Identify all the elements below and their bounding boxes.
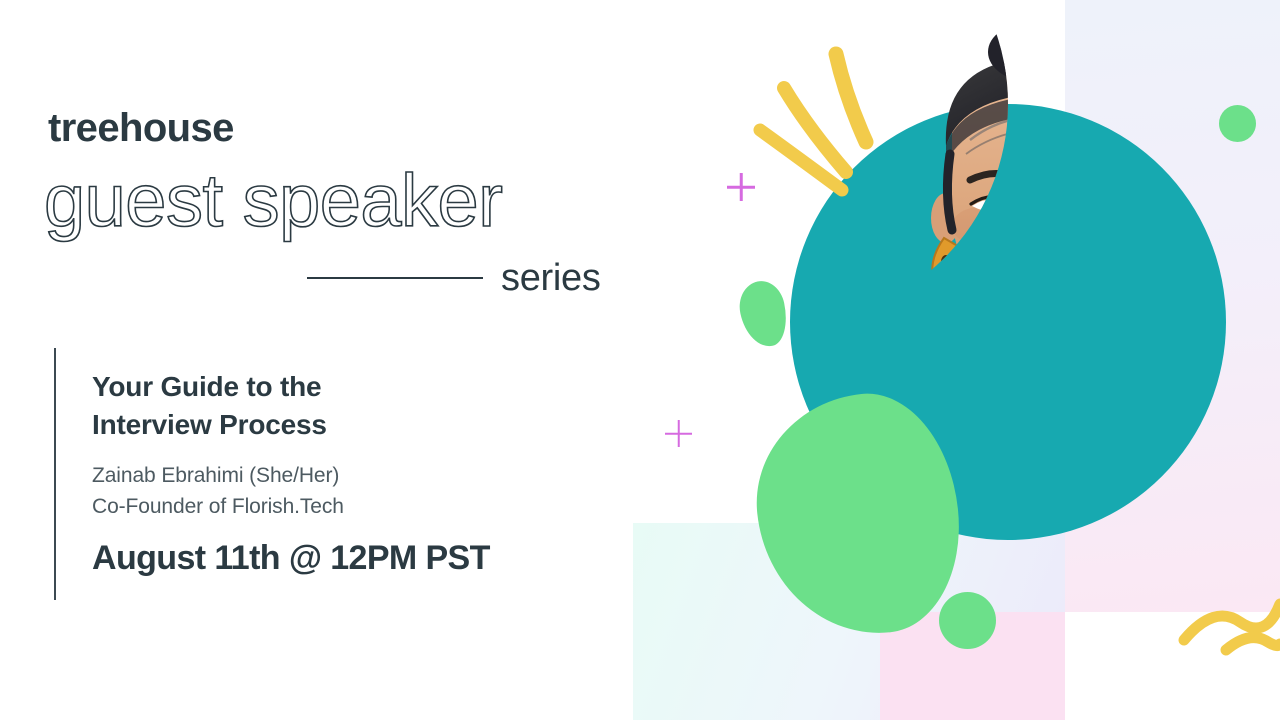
vertical-accent-rule (54, 348, 56, 600)
speaker-name: Zainab Ebrahimi (She/Her) (92, 461, 612, 491)
series-label: series (501, 259, 601, 297)
plus-mark-lower (665, 420, 692, 447)
series-divider-rule (307, 277, 483, 279)
series-row: series (307, 255, 627, 301)
talk-title-line-2: Interview Process (92, 406, 612, 444)
green-circle-top (1219, 105, 1256, 142)
green-circle-bottom (939, 592, 996, 649)
talk-title-line-1: Your Guide to the (92, 368, 612, 406)
promo-graphic: treehouse guest speaker series Your Guid… (0, 0, 1280, 720)
headline-guest-speaker: guest speaker (44, 162, 502, 240)
green-blob-small (735, 277, 793, 351)
plus-mark-upper (727, 173, 755, 201)
speaker-role: Co-Founder of Florish.Tech (92, 492, 612, 522)
event-datetime: August 11th @ 12PM PST (92, 540, 612, 577)
treehouse-wordmark: treehouse (48, 108, 234, 148)
event-details: Your Guide to the Interview Process Zain… (92, 368, 612, 577)
